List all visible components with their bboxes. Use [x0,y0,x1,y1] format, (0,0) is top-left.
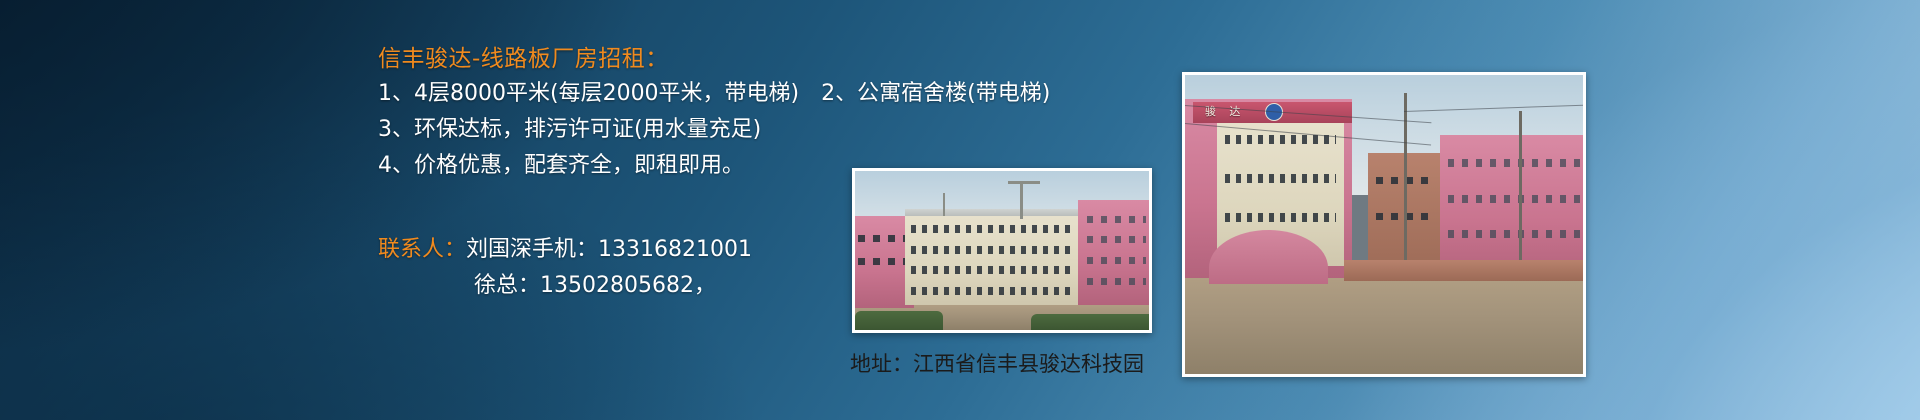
photo-crane-jib [1008,181,1040,184]
bullet-line-1: 1、4层8000平米(每层2000平米，带电梯)2、公寓宿舍楼(带电梯) [378,76,1238,112]
photo-window-row [1448,195,1583,203]
photo-window-row [1225,213,1336,222]
photo-utility-pole [1519,111,1522,261]
bullet-4-index: 4、 [378,153,414,178]
photo-window-row [911,266,1076,274]
phone-number: 13316821001 [598,237,752,262]
bullet-3-index: 3、 [378,117,414,142]
photo-window-row [1087,278,1146,285]
photo-window-row [911,225,1076,233]
photo-window-row [911,246,1076,254]
photo-window-row [858,235,911,242]
photo-window-row [1448,230,1583,238]
factory-gate-photo-content: 骏 达 [1185,75,1583,374]
bullet-3-text: 环保达标，排污许可证(用水量充足) [414,117,761,142]
bullet-2-text: 公寓宿舍楼(带电梯) [857,81,1050,106]
photo-window-row [1448,159,1583,167]
contact-label: 联系人： [378,237,466,262]
bullet-4-text: 价格优惠，配套齐全，即租即用。 [414,153,744,178]
photo-boundary-wall [1344,260,1583,281]
rental-banner: 信丰骏达-线路板厂房招租： 1、4层8000平米(每层2000平米，带电梯)2、… [0,0,1920,420]
bullet-2-index: 2、 [821,81,857,106]
photo-window-row [911,287,1076,295]
page-title: 信丰骏达-线路板厂房招租： [378,42,1238,76]
photo-treeline [1031,314,1149,330]
bullet-1-index: 1、 [378,81,414,106]
photo-utility-pole [1404,93,1407,260]
photo-window-row [1225,174,1336,183]
photo-window-row [1087,257,1146,264]
bullet-line-3: 3、环保达标，排污许可证(用水量充足) [378,112,1238,148]
rental-text-block: 信丰骏达-线路板厂房招租： 1、4层8000平米(每层2000平米，带电梯)2、… [378,42,1238,184]
photo-roof-parapet [905,209,1081,215]
photo-factory-block-right [1440,135,1583,279]
photo-window-row [858,258,911,265]
company-sign-text: 骏 达 [1205,103,1246,119]
photo-ground [1185,278,1583,374]
photo-scaffold-pole [943,193,945,215]
photo-treeline [855,311,943,330]
address-caption: 地址：江西省信丰县骏达科技园 [850,350,1144,378]
factory-building-photo [852,168,1152,333]
phone-label: 手机： [532,237,598,262]
factory-building-photo-content [855,171,1149,330]
bullet-1-text: 4层8000平米(每层2000平米，带电梯) [414,81,799,106]
photo-window-row [1087,236,1146,243]
photo-window-row [1225,135,1336,144]
factory-gate-photo: 骏 达 [1182,72,1586,377]
photo-window-row [1087,216,1146,223]
photo-crane-mast [1020,181,1023,219]
contact-name: 刘国深 [466,237,532,262]
